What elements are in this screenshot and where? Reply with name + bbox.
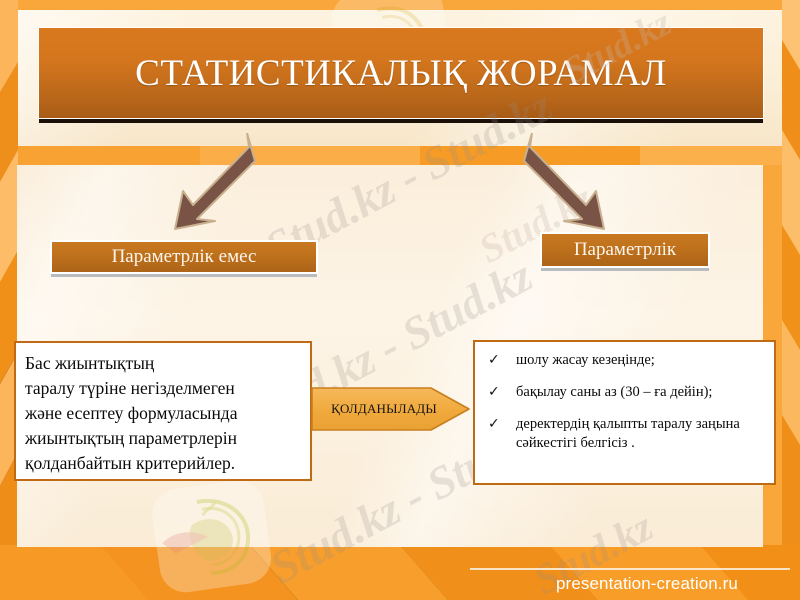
definition-line-1: Бас жиынтықтың (25, 351, 304, 376)
slide-title-plate: СТАТИСТИКАЛЫҚ ЖОРАМАЛ (38, 27, 764, 119)
definition-box: Бас жиынтықтың таралу түріне негізделмег… (14, 341, 312, 481)
arrow-down-right-icon (520, 133, 625, 233)
category-nonparametric[interactable]: Параметрлік емес (50, 240, 318, 274)
definition-line-2: таралу түріне негізделмеген (25, 376, 304, 401)
category-parametric[interactable]: Параметрлік (540, 232, 710, 268)
list-item-label: шолу жасау кезеңінде; (516, 351, 655, 370)
footer-source-label: presentation-creation.ru (556, 574, 738, 594)
connector-arrow-shape (311, 382, 471, 436)
checkmark-icon: ✓ (483, 351, 516, 370)
checkmark-icon: ✓ (483, 383, 516, 402)
category-parametric-label: Параметрлік (574, 239, 676, 261)
definition-line-3: және есептеу формуласында (25, 401, 304, 426)
list-item: ✓ бақылау саны аз (30 – ға дейін); (483, 383, 766, 402)
list-item: ✓ деректердің қалыпты таралу заңына сәйк… (483, 415, 766, 453)
page-title: СТАТИСТИКАЛЫҚ ЖОРАМАЛ (135, 52, 667, 95)
slide-canvas: СТАТИСТИКАЛЫҚ ЖОРАМАЛ Stud.kz - Stud.kz … (0, 0, 800, 600)
list-item-label: бақылау саны аз (30 – ға дейін); (516, 383, 712, 402)
checkmark-icon: ✓ (483, 415, 516, 434)
list-item-label: деректердің қалыпты таралу заңына сәйкес… (516, 415, 766, 453)
definition-line-4: жиынтықтың параметрлерін (25, 426, 304, 451)
arrow-down-left-icon (155, 133, 260, 233)
category-nonparametric-label: Параметрлік емес (112, 246, 257, 268)
definition-line-5: қолданбайтын критерийлер. (25, 451, 304, 476)
bullet-list-box: ✓ шолу жасау кезеңінде; ✓ бақылау саны а… (473, 340, 776, 485)
footer-divider (470, 568, 790, 570)
list-item: ✓ шолу жасау кезеңінде; (483, 351, 766, 370)
